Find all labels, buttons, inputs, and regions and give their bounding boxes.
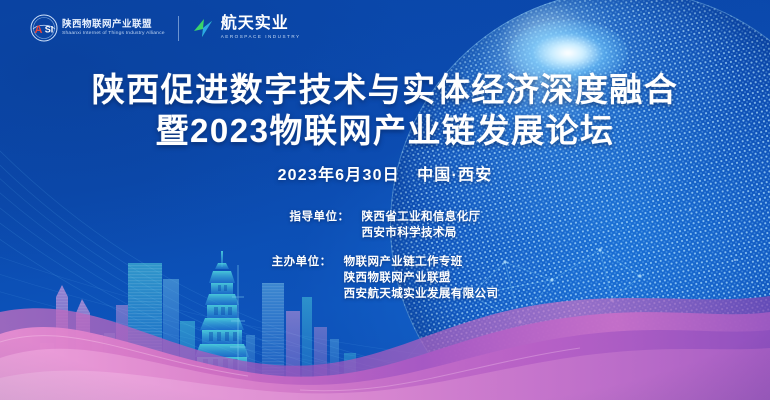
organization-row-host: 主办单位： 物联网产业链工作专班 陕西物联网产业联盟 西安航天城实业发展有限公司 xyxy=(0,254,770,302)
host-unit-item: 陕西物联网产业联盟 xyxy=(344,270,499,286)
organization-list: 指导单位： 陕西省工业和信息化厅 西安市科学技术局 主办单位： 物联网产业链工作… xyxy=(0,209,770,315)
guidance-unit-item: 西安市科学技术局 xyxy=(362,225,481,241)
guidance-units-label: 指导单位： xyxy=(290,209,362,225)
main-title-line-2: 暨2023物联网产业链发展论坛 xyxy=(0,111,770,151)
event-date-location: 2023年6月30日 中国·西安 xyxy=(0,161,770,185)
conference-banner: A SI 陕西物联网产业联盟 Shaanxi Internet of Thing… xyxy=(0,0,770,400)
banner-content: 陕西促进数字技术与实体经济深度融合 暨2023物联网产业链发展论坛 2023年6… xyxy=(0,0,770,400)
host-unit-item: 物联网产业链工作专班 xyxy=(344,254,499,270)
guidance-units-values: 陕西省工业和信息化厅 西安市科学技术局 xyxy=(362,209,481,241)
organization-row-guidance: 指导单位： 陕西省工业和信息化厅 西安市科学技术局 xyxy=(0,209,770,241)
host-units-label: 主办单位： xyxy=(272,254,344,270)
host-units-values: 物联网产业链工作专班 陕西物联网产业联盟 西安航天城实业发展有限公司 xyxy=(344,254,499,302)
host-unit-item: 西安航天城实业发展有限公司 xyxy=(344,286,499,302)
main-title-line-1: 陕西促进数字技术与实体经济深度融合 xyxy=(0,70,770,110)
guidance-unit-item: 陕西省工业和信息化厅 xyxy=(362,209,481,225)
